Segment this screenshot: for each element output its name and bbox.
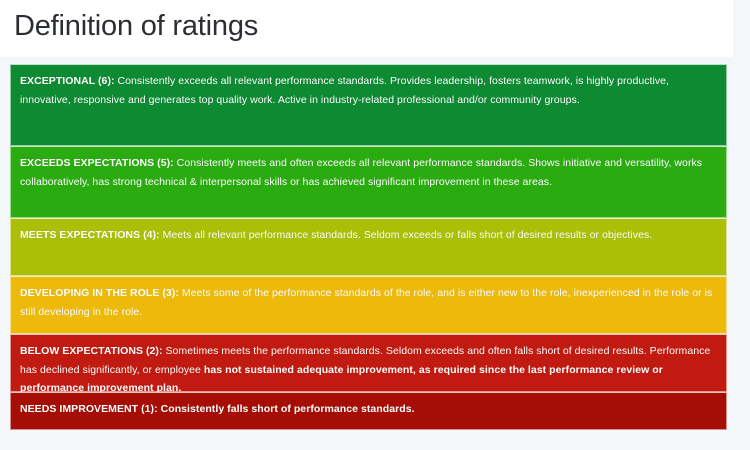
rating-label: EXCEPTIONAL (6): <box>20 75 115 87</box>
rating-band-exceptional: EXCEPTIONAL (6): Consistently exceeds al… <box>10 64 727 146</box>
rating-label: MEETS EXPECTATIONS (4): <box>20 229 160 241</box>
rating-label: NEEDS IMPROVEMENT (1): <box>20 403 158 415</box>
rating-band-text: MEETS EXPECTATIONS (4): Meets all releva… <box>20 226 717 245</box>
rating-band-exceeds-expectations: EXCEEDS EXPECTATIONS (5): Consistently m… <box>10 146 727 218</box>
header-card: Definition of ratings <box>0 0 733 57</box>
rating-label: BELOW EXPECTATIONS (2): <box>20 345 163 357</box>
rating-band-text: BELOW EXPECTATIONS (2): Sometimes meets … <box>20 342 717 398</box>
rating-description: Meets all relevant performance standards… <box>160 229 653 241</box>
rating-band-needs-improvement: NEEDS IMPROVEMENT (1): Consistently fall… <box>10 392 727 430</box>
rating-label: DEVELOPING IN THE ROLE (3): <box>20 287 179 299</box>
rating-band-text: EXCEPTIONAL (6): Consistently exceeds al… <box>20 72 717 109</box>
rating-band-text: DEVELOPING IN THE ROLE (3): Meets some o… <box>20 284 717 321</box>
rating-band-below-expectations: BELOW EXPECTATIONS (2): Sometimes meets … <box>10 334 727 392</box>
ratings-legend-list: EXCEPTIONAL (6): Consistently exceeds al… <box>10 64 727 430</box>
rating-band-meets-expectations: MEETS EXPECTATIONS (4): Meets all releva… <box>10 218 727 276</box>
rating-band-developing-in-the-role: DEVELOPING IN THE ROLE (3): Meets some o… <box>10 276 727 334</box>
rating-label: EXCEEDS EXPECTATIONS (5): <box>20 157 174 169</box>
rating-band-text: NEEDS IMPROVEMENT (1): Consistently fall… <box>20 400 717 419</box>
rating-description: Consistently exceeds all relevant perfor… <box>20 75 669 106</box>
rating-description-bold: Consistently falls short of performance … <box>158 403 415 415</box>
page-title: Definition of ratings <box>14 6 258 46</box>
ratings-page: Definition of ratings EXCEPTIONAL (6): C… <box>0 0 750 450</box>
rating-band-text: EXCEEDS EXPECTATIONS (5): Consistently m… <box>20 154 717 191</box>
